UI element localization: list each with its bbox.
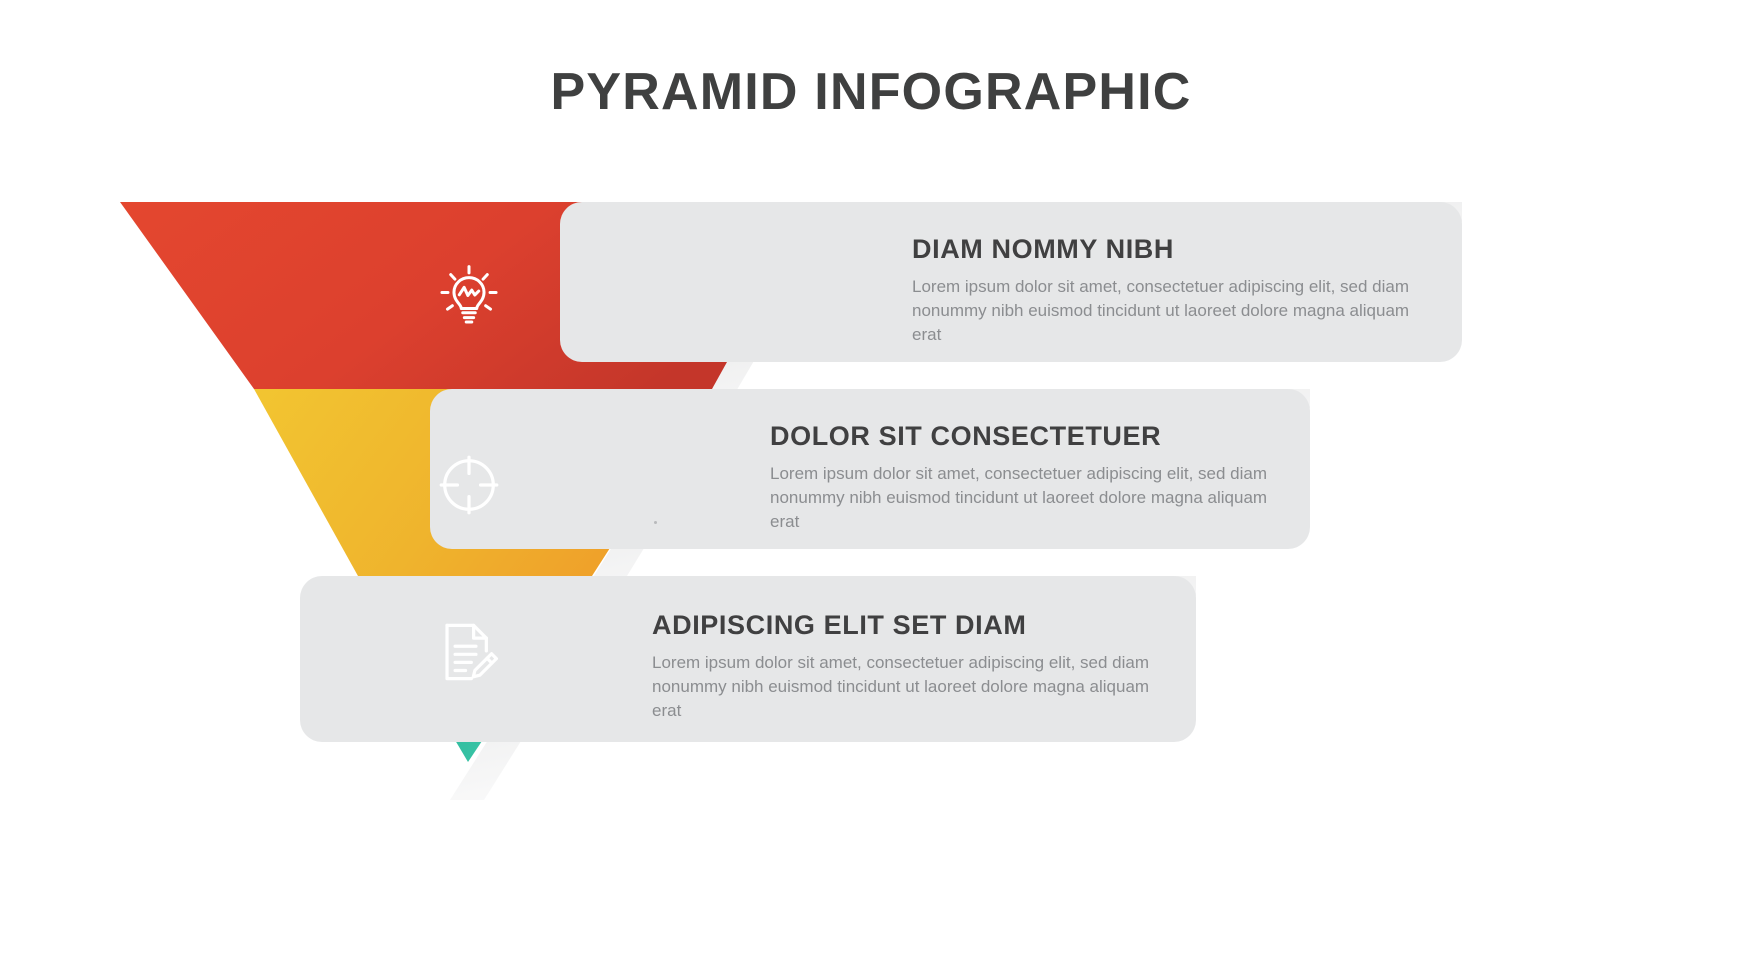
info-panel-2[interactable]: DOLOR SIT CONSECTETUER Lorem ipsum dolor… (430, 389, 1310, 549)
panel-2-body: Lorem ipsum dolor sit amet, consectetuer… (770, 462, 1268, 534)
panel-1-title: DIAM NOMMY NIBH (912, 234, 1418, 265)
panel-1-content: DIAM NOMMY NIBH Lorem ipsum dolor sit am… (912, 234, 1418, 347)
decorative-dot (654, 521, 657, 524)
info-panel-1[interactable]: DIAM NOMMY NIBH Lorem ipsum dolor sit am… (560, 202, 1462, 362)
lightbulb-idea-icon (432, 258, 506, 332)
infographic-canvas: PYRAMID INFOGRAPHIC (0, 0, 1742, 980)
page-title: PYRAMID INFOGRAPHIC (0, 62, 1742, 122)
target-crosshair-icon (432, 448, 506, 522)
panel-2-content: DOLOR SIT CONSECTETUER Lorem ipsum dolor… (770, 421, 1268, 534)
panel-3-title: ADIPISCING ELIT SET DIAM (652, 610, 1152, 641)
panel-3-content: ADIPISCING ELIT SET DIAM Lorem ipsum dol… (652, 610, 1152, 723)
panel-3-body: Lorem ipsum dolor sit amet, consectetuer… (652, 651, 1152, 723)
document-pencil-icon (432, 615, 506, 689)
panel-2-title: DOLOR SIT CONSECTETUER (770, 421, 1268, 452)
panel-1-body: Lorem ipsum dolor sit amet, consectetuer… (912, 275, 1412, 347)
